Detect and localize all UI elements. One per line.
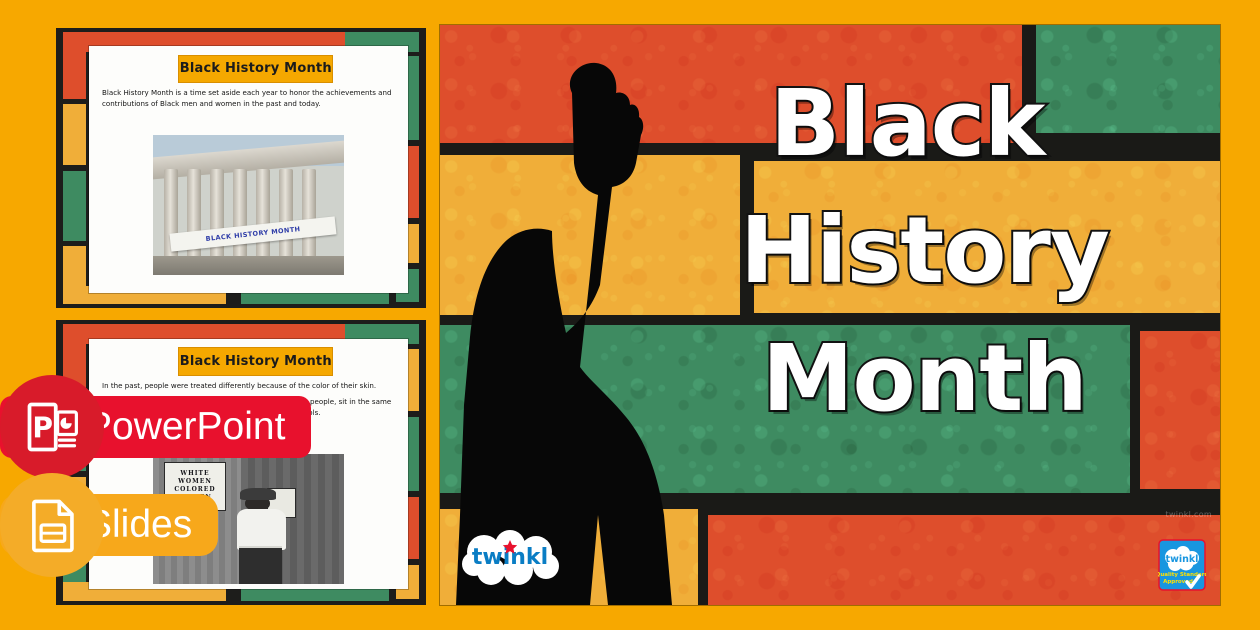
slide-title-text: Black History Month <box>180 354 332 369</box>
poster-preview-stage: Black History Month Black History Month … <box>0 0 1260 630</box>
badge-slides[interactable]: Slides <box>0 494 218 556</box>
brick-yellow <box>754 161 1220 313</box>
slide-photo-1: BLACK HISTORY MONTH <box>153 135 344 275</box>
person-trousers <box>239 548 281 585</box>
watermark-text: twinkl.com <box>1166 510 1212 519</box>
sign-line-2: WOMEN <box>178 478 212 486</box>
building-column <box>279 169 293 259</box>
classical-building-image: BLACK HISTORY MONTH <box>153 135 344 275</box>
slide-page: Black History Month Black History Month … <box>89 46 407 292</box>
brick-red <box>708 515 1220 605</box>
slide-thumbnail-2[interactable]: Black History Month In the past, people … <box>56 320 426 605</box>
brick-green <box>1036 25 1220 133</box>
slide-title-banner: Black History Month <box>178 347 333 375</box>
person-hat <box>240 488 276 501</box>
slide-title-banner: Black History Month <box>178 55 333 83</box>
powerpoint-icon-circle: P <box>0 375 104 479</box>
svg-text:twinkl: twinkl <box>1166 554 1199 565</box>
google-slides-icon <box>23 496 81 554</box>
frame-brick <box>63 104 85 166</box>
slide-body-text: Black History Month is a time set aside … <box>102 88 398 115</box>
powerpoint-label: PowerPoint <box>86 405 285 449</box>
building-column <box>256 169 270 259</box>
raised-fist-silhouette <box>440 45 770 605</box>
quality-standard-badge: twinkl Quality Standard Approved <box>1158 537 1206 593</box>
twinkl-logo: twinkl <box>458 529 564 587</box>
slide-thumbnail-1[interactable]: Black History Month Black History Month … <box>56 28 426 308</box>
badge-powerpoint[interactable]: PowerPoint P <box>0 396 311 458</box>
frame-brick <box>63 32 85 99</box>
slide-title-text: Black History Month <box>180 61 332 76</box>
person-shirt <box>237 509 286 550</box>
slides-icon-circle <box>0 473 104 577</box>
building-base <box>153 256 344 276</box>
powerpoint-icon: P <box>22 397 82 457</box>
slide-paragraph: In the past, people were treated differe… <box>102 381 398 392</box>
slide-paragraph: Black History Month is a time set aside … <box>102 88 398 110</box>
frame-brick <box>63 171 85 241</box>
poster-main-image[interactable]: Black History Month twinkl.com twinkl <box>440 25 1220 605</box>
sign-line-1: WHITE <box>180 470 209 478</box>
svg-text:P: P <box>32 411 53 444</box>
person-figure <box>237 488 294 585</box>
brick-red <box>1140 331 1220 489</box>
building-column <box>302 169 316 259</box>
